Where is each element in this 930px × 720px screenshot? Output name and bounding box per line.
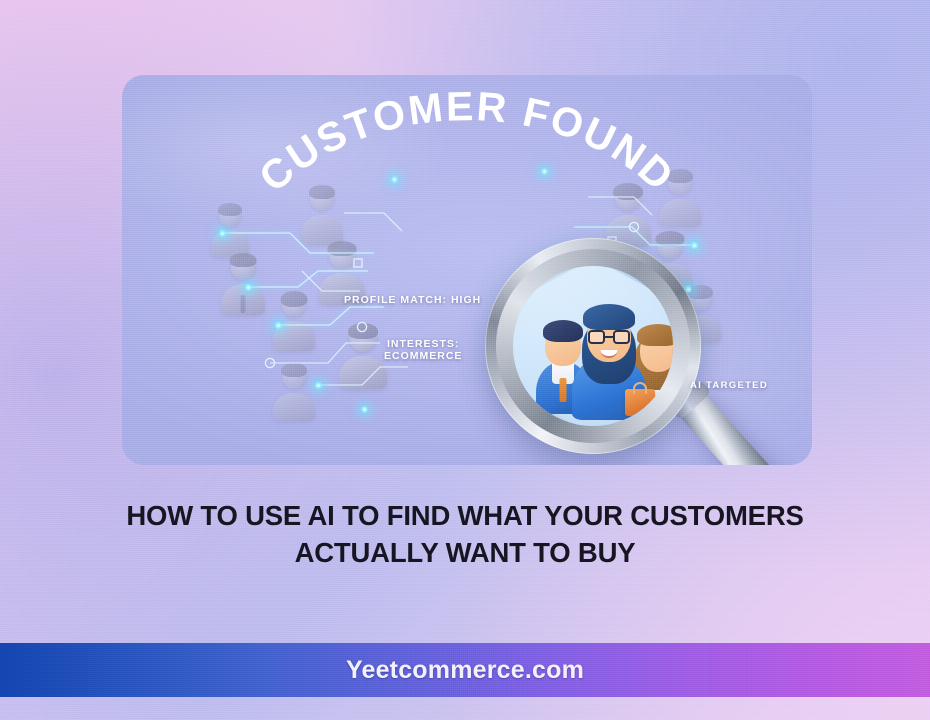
crowd-avatar (272, 293, 316, 351)
crowd-avatar (272, 365, 316, 421)
lens-rim (485, 238, 701, 454)
glow-node (274, 321, 283, 330)
glow-node (244, 283, 253, 292)
glow-node (627, 365, 636, 374)
crowd-avatar (604, 185, 652, 247)
footer-banner: Yeetcommerce.com (0, 643, 930, 697)
crowd-avatar (678, 287, 722, 343)
glow-node (314, 381, 323, 390)
label-ai-targeted: AI TARGETED (690, 380, 768, 391)
circuit-trace-network (122, 75, 812, 465)
glow-node (690, 241, 699, 250)
card-sheen (122, 75, 812, 465)
glow-node (540, 167, 549, 176)
lens-glass (513, 266, 673, 426)
crowd-avatar (338, 325, 388, 389)
glow-node (360, 405, 369, 414)
lens-rim-inner (496, 249, 690, 443)
glow-node (390, 175, 399, 184)
magnifier-handle (672, 386, 788, 465)
glow-node (684, 285, 693, 294)
person-woman-with-glasses (571, 300, 647, 420)
magnifier-collar (668, 379, 711, 420)
arc-headline: CUSTOMER FOUND (232, 87, 702, 267)
arc-headline-text: CUSTOMER FOUND (250, 83, 684, 200)
lens-glow (469, 222, 717, 465)
glow-node (218, 229, 227, 238)
crowd-avatar (300, 187, 344, 245)
hero-illustration-card: CUSTOMER FOUND PROFILE MATCH: HIGH INTER… (122, 75, 812, 465)
glow-node (678, 329, 687, 338)
person-man-in-blue-suit (535, 318, 591, 414)
label-interests: INTERESTS: ECOMMERCE (384, 338, 462, 363)
brand-url-text: Yeetcommerce.com (346, 656, 584, 685)
crowd-avatar (646, 233, 694, 295)
crowd-avatar (220, 255, 266, 315)
crowd-avatar (210, 205, 250, 257)
crowd-avatar (550, 347, 594, 403)
crowd-avatar (658, 171, 702, 227)
page-root: CUSTOMER FOUND PROFILE MATCH: HIGH INTER… (0, 0, 930, 720)
svg-text:CUSTOMER FOUND: CUSTOMER FOUND (250, 83, 684, 200)
page-title: HOW TO USE AI TO FIND WHAT YOUR CUSTOMER… (65, 498, 865, 571)
shopping-bag-icon (625, 382, 655, 416)
person-woman-in-yellow-blazer (629, 320, 673, 416)
hex-highlight-plate (513, 266, 673, 426)
magnifying-glass-icon (485, 238, 701, 454)
crowd-avatar (600, 307, 650, 371)
crowd-avatar (318, 243, 366, 305)
label-profile-match: PROFILE MATCH: HIGH (344, 294, 481, 306)
